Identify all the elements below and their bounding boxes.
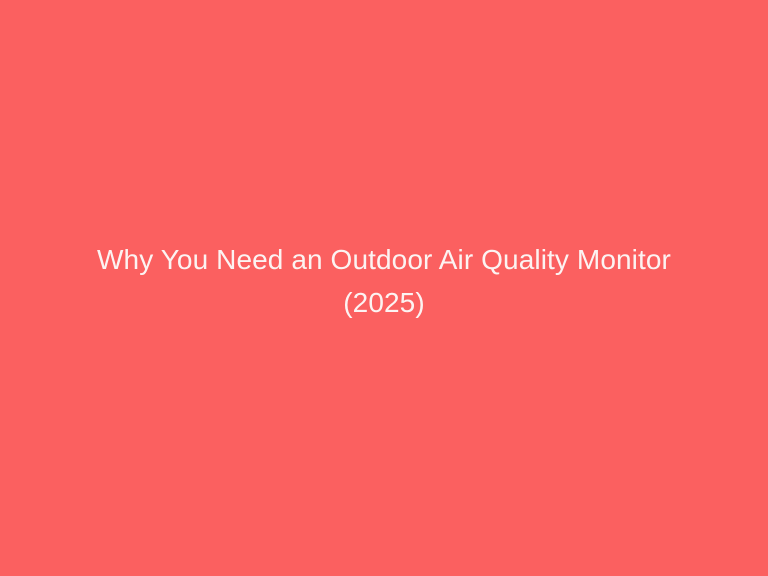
- headline-container: Why You Need an Outdoor Air Quality Moni…: [0, 238, 768, 324]
- page-title: Why You Need an Outdoor Air Quality Moni…: [34, 238, 734, 324]
- article-placeholder-card: Why You Need an Outdoor Air Quality Moni…: [0, 0, 768, 576]
